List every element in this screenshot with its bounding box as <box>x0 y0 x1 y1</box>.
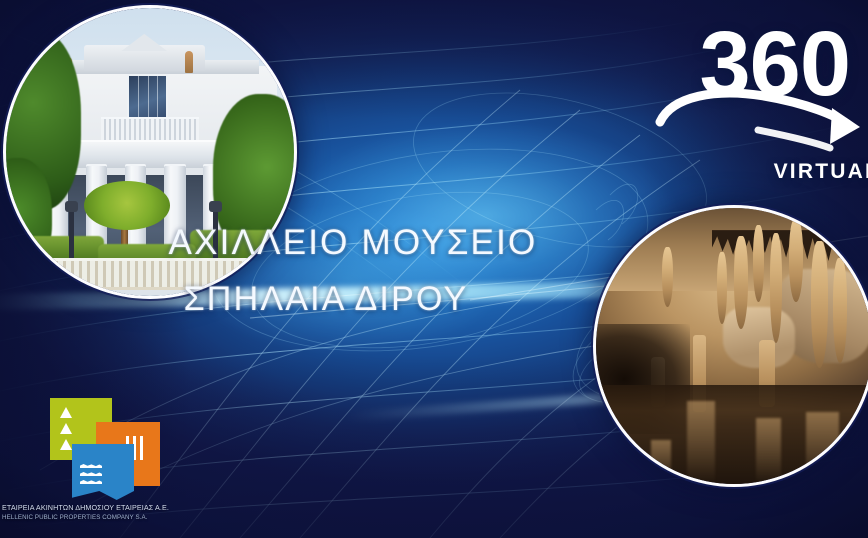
roof-statue <box>185 51 193 73</box>
triangles-icon <box>60 423 72 434</box>
water-reflection <box>806 412 839 484</box>
palm-crown <box>84 181 170 230</box>
orbit-arrow-icon <box>654 86 868 156</box>
waves-icon <box>80 472 102 476</box>
garden-lamp <box>69 210 74 259</box>
etad-caption-english: HELLENIC PUBLIC PROPERTIES COMPANY S.A. <box>2 513 226 523</box>
stalactite <box>789 219 803 302</box>
stalactite <box>833 258 847 363</box>
garden-lamp <box>213 210 218 259</box>
banner-stage: 360 VIRTUAL ΑΧΙΛΛΕΙΟ ΜΟΥΣΕΙΟ ΣΠΗΛΑΙΑ ΔΙΡ… <box>0 0 868 538</box>
diros-caves-photo[interactable] <box>596 208 868 484</box>
garden-balustrade <box>18 258 283 290</box>
waves-icon <box>80 464 102 468</box>
etad-caption: ΕΤΑΙΡΕΙΑ ΑΚΙΝΗΤΩΝ ΔΗΜΟΣΙΟΥ ΕΤΑΙΡΕΙΑΣ Α.Ε… <box>2 503 226 522</box>
flower-bed-right <box>190 230 276 259</box>
logo-360-tagline: VIRTUAL <box>774 160 868 184</box>
palace-balcony-balustrade <box>101 117 199 142</box>
bars-icon <box>140 436 143 460</box>
stalactite <box>811 241 828 368</box>
triangles-icon <box>60 439 72 450</box>
etad-logo[interactable] <box>42 396 160 500</box>
water-reflection <box>687 401 715 484</box>
triangles-icon <box>60 407 72 418</box>
achilleion-palace-photo[interactable] <box>6 8 294 296</box>
waves-icon <box>80 480 102 484</box>
logo-360: 360 VIRTUAL <box>654 14 868 184</box>
water-reflection <box>756 418 781 484</box>
etad-caption-greek: ΕΤΑΙΡΕΙΑ ΑΚΙΝΗΤΩΝ ΔΗΜΟΣΙΟΥ ΕΤΑΙΡΕΙΑΣ Α.Ε… <box>2 503 226 513</box>
water-reflection <box>651 440 670 484</box>
stalactite <box>734 236 748 330</box>
blue-square <box>72 444 134 500</box>
